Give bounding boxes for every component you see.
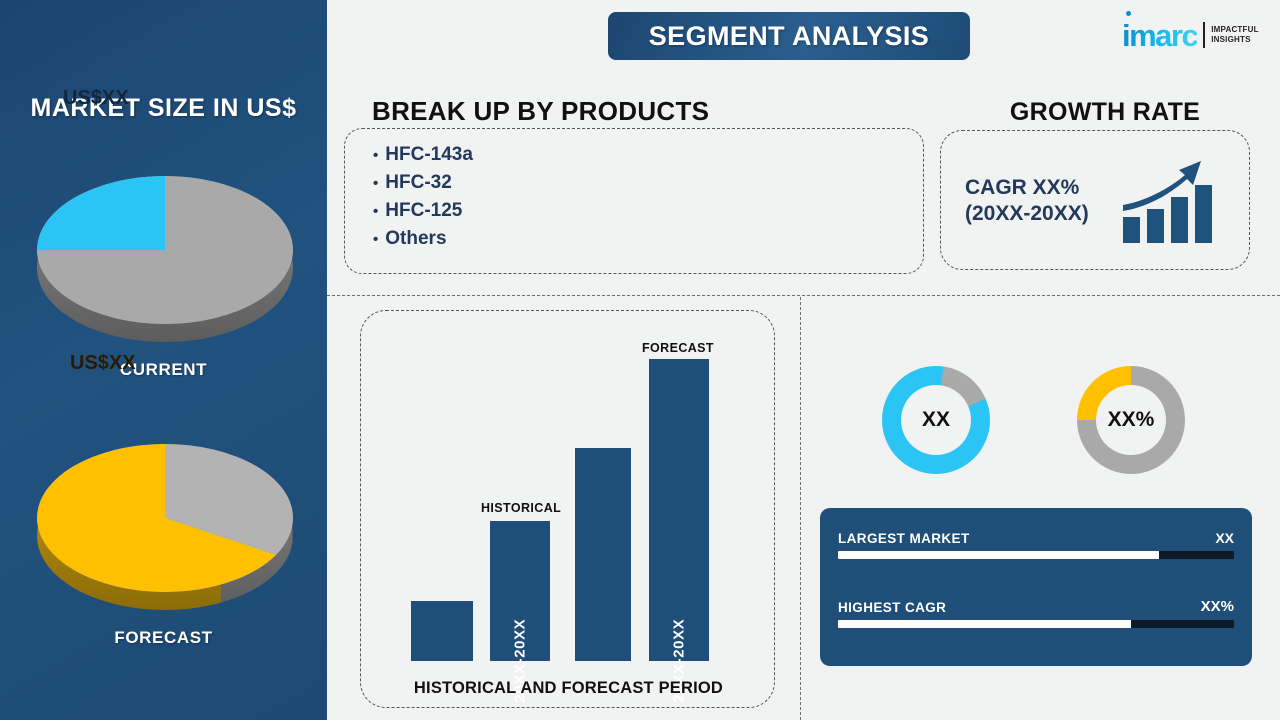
bullet-icon: • [373, 229, 378, 251]
products-card: • HFC-143a • HFC-32 • HFC-125 • Others [344, 128, 924, 274]
highest-cagr-donut-label: XX% [1096, 385, 1166, 455]
list-item-label: HFC-125 [385, 197, 462, 225]
forecast-pie-surface [37, 444, 293, 592]
forecast-pie-value-label: US$XX [70, 352, 136, 375]
logo-tagline-line1: IMPACTFUL [1211, 25, 1258, 35]
metric-largest-market-fill [838, 551, 1159, 559]
cagr-period: (20XX-20XX) [965, 201, 1089, 227]
sidebar-title: MARKET SIZE IN US$ [0, 94, 327, 123]
products-list: • HFC-143a • HFC-32 • HFC-125 • Others [373, 141, 473, 253]
products-heading: BREAK UP BY PRODUCTS [372, 96, 709, 127]
imarc-wordmark-text: imarc [1122, 18, 1197, 53]
imarc-wordmark: imarc [1122, 20, 1197, 51]
key-metrics-panel: LARGEST MARKET XX HIGHEST CAGR XX% [820, 508, 1252, 666]
logo-divider [1203, 22, 1205, 48]
current-pie-caption: CURRENT [0, 360, 327, 380]
forecast-pie-chart [0, 418, 327, 603]
imarc-logo: imarc IMPACTFUL INSIGHTS [1122, 16, 1259, 54]
metric-largest-market-track [838, 551, 1234, 559]
growth-rate-heading: GROWTH RATE [940, 98, 1270, 127]
logo-tagline-line2: INSIGHTS [1211, 35, 1258, 45]
market-size-sidebar: MARKET SIZE IN US$ US$XX CURRENT [0, 0, 327, 720]
metric-highest-cagr-fill [838, 620, 1131, 628]
bullet-icon: • [373, 201, 378, 223]
metric-largest-market-label: LARGEST MARKET [838, 531, 970, 546]
bar-chart: 20XX-20XX HISTORICAL 20XX-20XX FORECAST … [361, 311, 776, 709]
forecast-label: FORECAST [642, 341, 714, 355]
growth-bar-arrow-icon [1121, 159, 1225, 250]
list-item-label: Others [385, 225, 446, 253]
growth-rate-card: CAGR XX% (20XX-20XX) [940, 130, 1250, 270]
bullet-icon: • [373, 173, 378, 195]
cagr-text: CAGR XX% (20XX-20XX) [965, 175, 1089, 228]
metric-highest-cagr-track [838, 620, 1234, 628]
metric-highest-cagr-value: XX% [1201, 598, 1234, 615]
list-item: • HFC-143a [373, 141, 473, 169]
list-item: • HFC-125 [373, 197, 473, 225]
bar-1 [411, 601, 473, 661]
forecast-pie-caption: FORECAST [0, 628, 327, 648]
historical-forecast-chart-card: 20XX-20XX HISTORICAL 20XX-20XX FORECAST … [360, 310, 775, 708]
infographic-root: MARKET SIZE IN US$ US$XX CURRENT [0, 0, 1280, 720]
largest-market-donut: XX [882, 366, 990, 474]
bar-4: 20XX-20XX [649, 359, 709, 661]
vertical-divider [800, 297, 801, 720]
metric-largest-market-value: XX [1215, 530, 1234, 546]
current-pie-surface [37, 176, 293, 324]
historical-label: HISTORICAL [481, 501, 561, 515]
cagr-value: CAGR XX% [965, 175, 1089, 201]
current-pie-chart [0, 150, 327, 335]
current-pie-value-label: US$XX [63, 87, 129, 110]
logo-tagline: IMPACTFUL INSIGHTS [1211, 25, 1258, 45]
list-item-label: HFC-32 [385, 169, 452, 197]
list-item-label: HFC-143a [385, 141, 473, 169]
bar-chart-caption: HISTORICAL AND FORECAST PERIOD [361, 679, 776, 698]
horizontal-divider [327, 295, 1280, 296]
metric-largest-market: LARGEST MARKET XX [838, 530, 1234, 559]
metric-highest-cagr-label: HIGHEST CAGR [838, 600, 946, 615]
page-title: SEGMENT ANALYSIS [649, 21, 929, 52]
page-title-chip: SEGMENT ANALYSIS [608, 12, 970, 60]
logo-dot-icon [1126, 11, 1131, 16]
metric-highest-cagr: HIGHEST CAGR XX% [838, 598, 1234, 628]
bar-3 [575, 448, 631, 661]
list-item: • Others [373, 225, 473, 253]
highest-cagr-donut: XX% [1077, 366, 1185, 474]
bullet-icon: • [373, 145, 378, 167]
largest-market-donut-label: XX [901, 385, 971, 455]
list-item: • HFC-32 [373, 169, 473, 197]
bar-2: 20XX-20XX [490, 521, 550, 661]
